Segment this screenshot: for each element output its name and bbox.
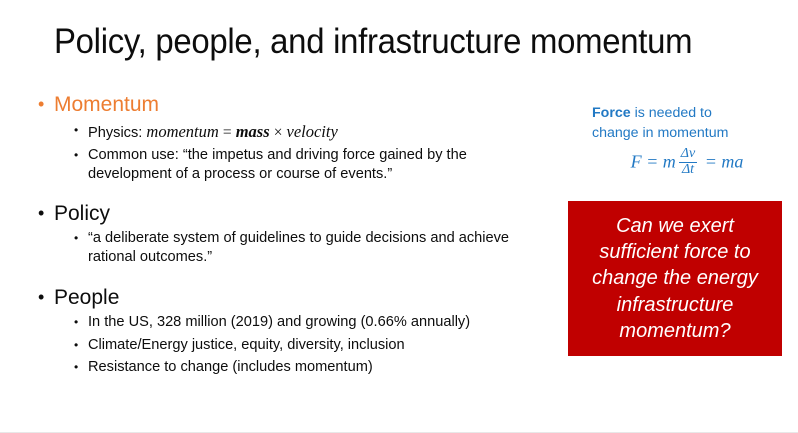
policy-definition-text: “a deliberate system of guidelines to gu…: [88, 230, 509, 265]
force-keyword: Force: [592, 105, 631, 121]
sub-bullet-people-1: • In the US, 328 million (2019) and grow…: [36, 313, 536, 332]
sub-bullet-common-use: • Common use: “the impetus and driving f…: [36, 146, 536, 185]
sub-bullet-dot-icon: •: [74, 146, 78, 164]
sub-bullet-people-2: • Climate/Energy justice, equity, divers…: [36, 336, 536, 355]
force-note: Force is needed to change in momentum: [592, 103, 788, 143]
bullet-policy: • Policy: [36, 201, 536, 227]
force-equation: F = mΔvΔt = ma: [592, 148, 782, 178]
sub-bullet-dot-icon: •: [74, 313, 78, 331]
sub-bullet-dot-icon: •: [74, 121, 78, 139]
bullet-dot-icon: •: [38, 285, 44, 310]
red-callout-box: Can we exert sufficient force to change …: [568, 201, 782, 356]
eq-equals-sign: =: [223, 124, 232, 141]
page-title: Policy, people, and infrastructure momen…: [54, 22, 718, 62]
people-item-3-text: Resistance to change (includes momentum): [88, 359, 373, 375]
bullet-dot-icon: •: [38, 201, 44, 226]
equation-F: F: [631, 151, 642, 171]
equation-m: m: [663, 151, 676, 171]
slide-canvas: Policy, people, and infrastructure momen…: [0, 0, 798, 433]
sub-bullet-policy-definition: • “a deliberate system of guidelines to …: [36, 229, 536, 268]
bullet-people: • People: [36, 285, 536, 311]
eq-times-sign: ×: [274, 124, 283, 141]
equation-denominator: Δt: [679, 162, 697, 178]
callout-text: Can we exert sufficient force to change …: [578, 213, 772, 345]
bullet-momentum: • Momentum: [36, 92, 536, 118]
people-item-2-text: Climate/Energy justice, equity, diversit…: [88, 337, 405, 353]
equation-equals-1: =: [646, 151, 658, 171]
force-note-line2: change in momentum: [592, 125, 728, 141]
eq-velocity-term: velocity: [287, 122, 338, 141]
bullet-dot-icon: •: [38, 92, 44, 117]
bullet-momentum-label: Momentum: [54, 93, 159, 116]
sub-bullet-dot-icon: •: [74, 336, 78, 354]
bullet-policy-label: Policy: [54, 202, 110, 225]
eq-mass-term: mass: [236, 122, 270, 141]
sub-bullet-physics: • Physics: momentum = mass × velocity: [36, 121, 536, 143]
force-note-line1: is needed to: [631, 105, 712, 121]
common-use-text: Common use: “the impetus and driving for…: [88, 147, 467, 182]
physics-label: Physics:: [88, 125, 142, 141]
equation-ma: ma: [721, 151, 743, 171]
people-item-1-text: In the US, 328 million (2019) and growin…: [88, 314, 470, 330]
equation-numerator: Δv: [679, 147, 697, 162]
bullet-people-label: People: [54, 286, 119, 309]
sub-bullet-people-3: • Resistance to change (includes momentu…: [36, 358, 536, 377]
sub-bullet-dot-icon: •: [74, 358, 78, 376]
sub-bullet-dot-icon: •: [74, 229, 78, 247]
equation-fraction: ΔvΔt: [679, 147, 697, 177]
body-content: • Momentum • Physics: momentum = mass × …: [36, 92, 536, 379]
equation-equals-2: =: [705, 151, 717, 171]
eq-momentum-term: momentum: [146, 122, 218, 141]
